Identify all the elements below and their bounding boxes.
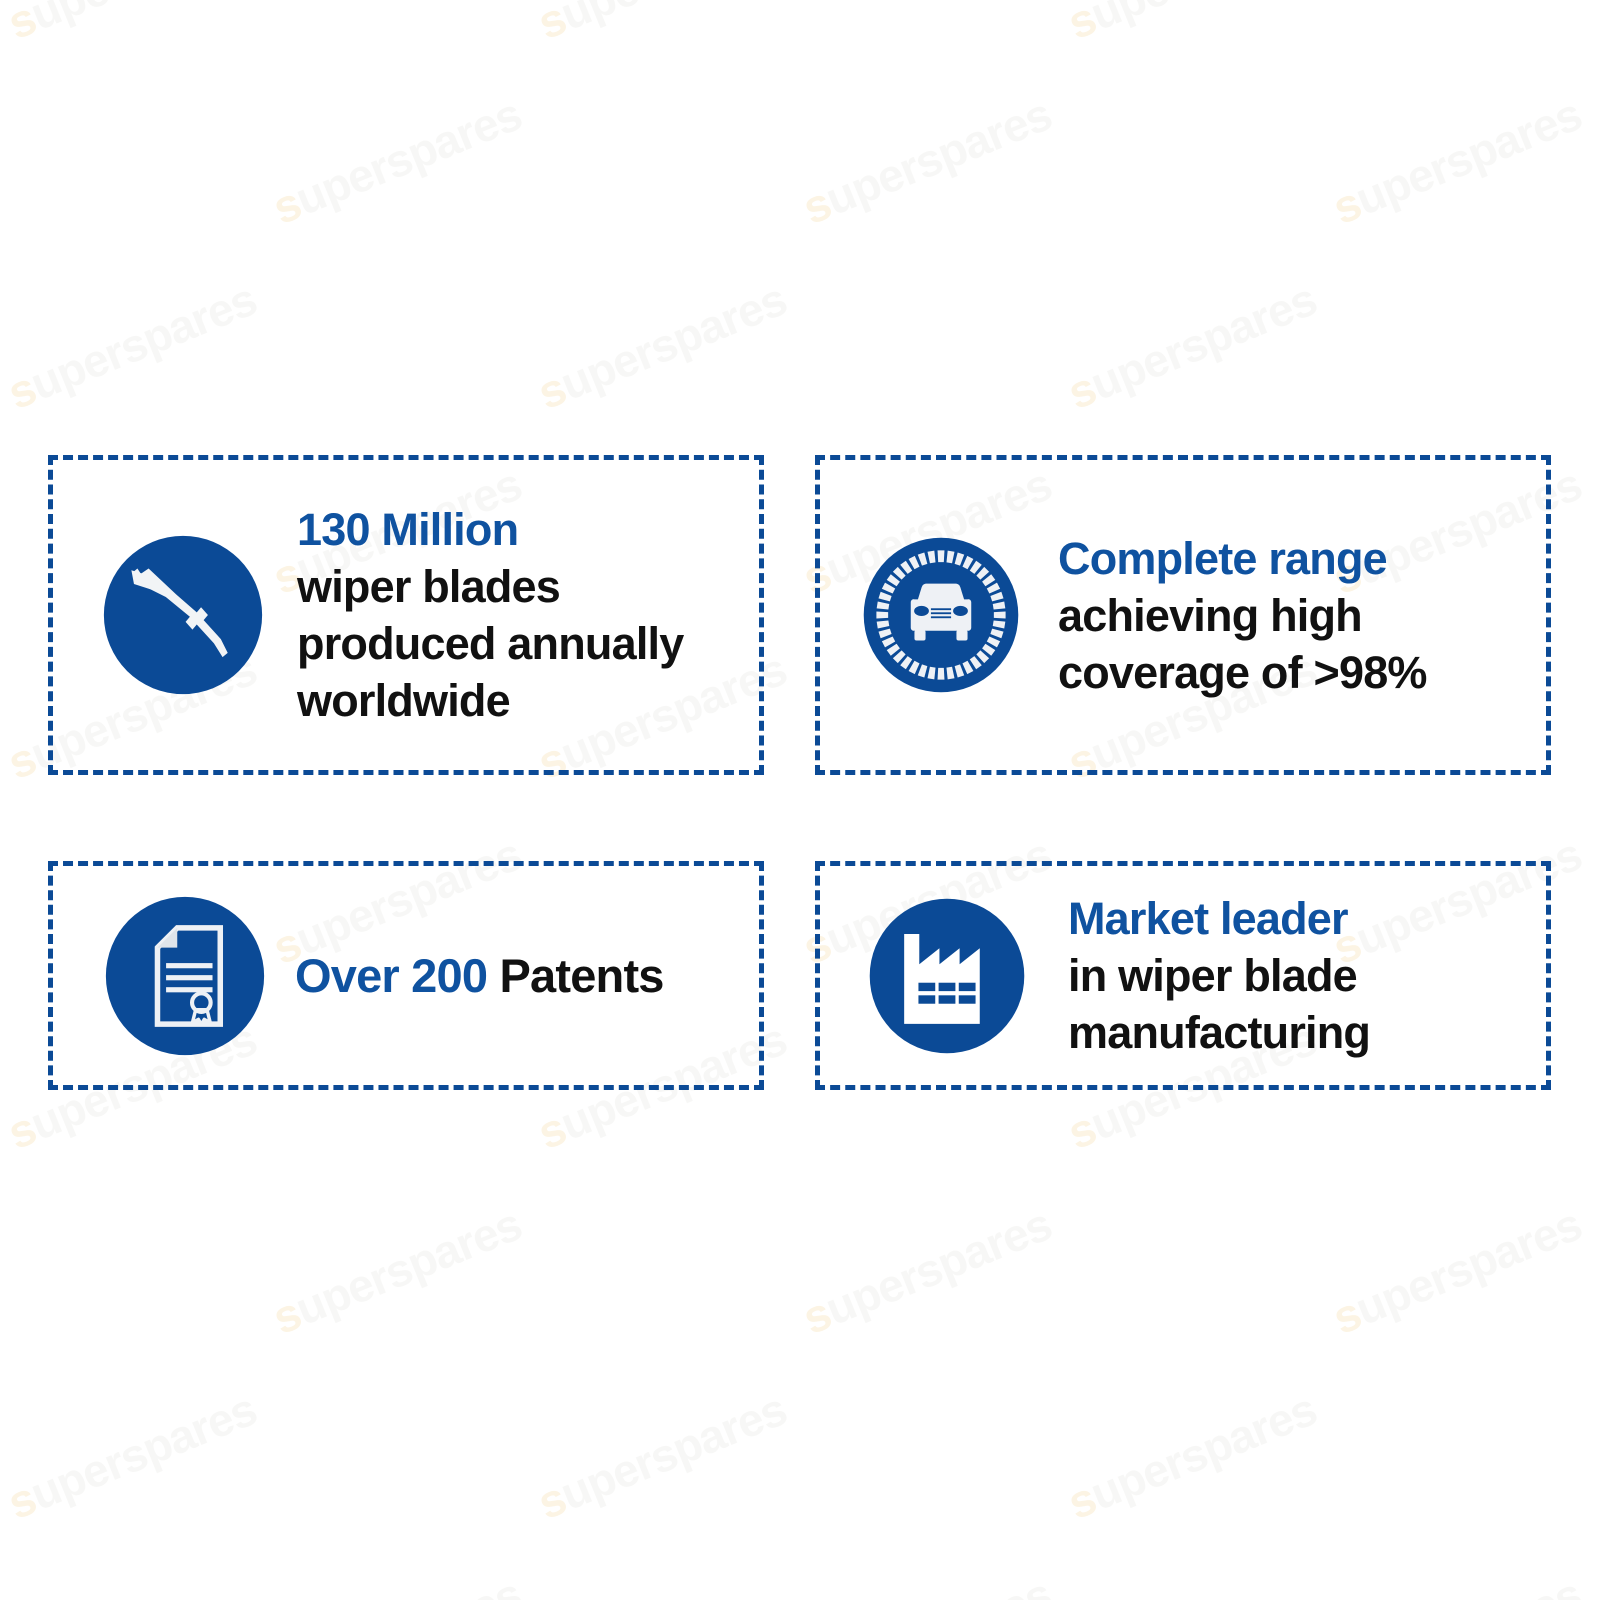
watermark-rest-letters: uperspares — [1083, 1383, 1323, 1520]
watermark-text: superspares — [1590, 1382, 1600, 1530]
watermark-text: superspares — [1060, 1382, 1324, 1530]
body-line-1: in wiper blade — [1068, 947, 1546, 1004]
panel-complete-range: Complete range achieving high coverage o… — [815, 455, 1551, 775]
body-line-1: Patents — [499, 949, 663, 1002]
watermark-lead-letter: s — [795, 1287, 837, 1344]
watermark-lead-letter: s — [530, 1102, 572, 1159]
watermark-rest-letters: uperspares — [23, 0, 263, 40]
watermark-rest-letters: uperspares — [553, 1383, 793, 1520]
watermark-text: superspares — [0, 1382, 264, 1530]
watermark-lead-letter: s — [530, 0, 572, 49]
wiper-blade-icon-wrapper — [83, 529, 283, 701]
watermark-rest-letters: uperspares — [1348, 1198, 1588, 1335]
watermark-lead-letter: s — [0, 362, 42, 419]
body-line-1: wiper blades — [297, 558, 749, 615]
panel-patents: Over 200 Patents — [48, 861, 764, 1090]
watermark-text: superspares — [0, 0, 264, 50]
watermark-lead-letter: s — [530, 362, 572, 419]
body-line-2: produced annually — [297, 615, 749, 672]
watermark-text: superspares — [1590, 1012, 1600, 1160]
watermark-lead-letter: s — [1325, 177, 1367, 234]
watermark-text: superspares — [1325, 87, 1589, 235]
watermark-text: superspares — [0, 272, 264, 420]
watermark-lead-letter: s — [1590, 732, 1600, 789]
watermark-lead-letter: s — [0, 0, 42, 49]
watermark-lead-letter: s — [1060, 0, 1102, 49]
watermark-rest-letters: uperspares — [23, 273, 263, 410]
watermark-lead-letter: s — [1060, 362, 1102, 419]
watermark-rest-letters: uperspares — [1083, 0, 1323, 40]
watermark-lead-letter: s — [1590, 1472, 1600, 1529]
car-coverage-icon-wrapper — [846, 531, 1036, 699]
watermark-text: superspares — [795, 1197, 1059, 1345]
watermark-text: superspares — [1590, 0, 1600, 50]
car-coverage-icon — [857, 531, 1025, 699]
watermark-lead-letter: s — [0, 732, 42, 789]
watermark-rest-letters: uperspares — [818, 1198, 1058, 1335]
factory-icon-wrapper — [852, 892, 1042, 1060]
watermark-lead-letter: s — [0, 1102, 42, 1159]
watermark-lead-letter: s — [1590, 1102, 1600, 1159]
watermark-text: superspares — [1325, 1197, 1589, 1345]
watermark-lead-letter: s — [795, 177, 837, 234]
panel-patents-text: Over 200 Patents — [295, 947, 759, 1004]
watermark-text: superspares — [265, 1567, 529, 1600]
watermark-rest-letters: uperspares — [1348, 1568, 1588, 1600]
watermark-rest-letters: uperspares — [553, 273, 793, 410]
watermark-rest-letters: uperspares — [288, 1568, 528, 1600]
watermark-lead-letter: s — [265, 177, 307, 234]
watermark-text: superspares — [1590, 272, 1600, 420]
watermark-text: superspares — [1325, 1567, 1589, 1600]
watermark-lead-letter: s — [1060, 1102, 1102, 1159]
watermark-text: superspares — [265, 87, 529, 235]
watermark-lead-letter: s — [1325, 1287, 1367, 1344]
watermark-lead-letter: s — [1590, 0, 1600, 49]
watermark-layer: supersparessupersparessupersparessupersp… — [0, 0, 1600, 1600]
body-line-1-spacer — [487, 949, 499, 1002]
watermark-text: superspares — [265, 1197, 529, 1345]
watermark-lead-letter: s — [530, 1472, 572, 1529]
watermark-rest-letters: uperspares — [818, 1568, 1058, 1600]
watermark-text: superspares — [530, 0, 794, 50]
watermark-rest-letters: uperspares — [1348, 88, 1588, 225]
body-line-3: worldwide — [297, 672, 749, 729]
watermark-rest-letters: uperspares — [23, 1383, 263, 1520]
panel-wiper-production: 130 Million wiper blades produced annual… — [48, 455, 764, 775]
watermark-text: superspares — [530, 1382, 794, 1530]
headline-text: 130 Million — [297, 501, 749, 558]
watermark-rest-letters: uperspares — [818, 88, 1058, 225]
headline-text: Over 200 — [295, 949, 487, 1002]
watermark-text: superspares — [1590, 642, 1600, 790]
watermark-text: superspares — [1060, 272, 1324, 420]
watermark-lead-letter: s — [265, 1287, 307, 1344]
watermark-lead-letter: s — [1590, 362, 1600, 419]
watermark-rest-letters: uperspares — [288, 1198, 528, 1335]
patent-certificate-icon-wrapper — [85, 890, 285, 1062]
body-line-2: coverage of >98% — [1058, 644, 1536, 701]
headline-text: Complete range — [1058, 530, 1536, 587]
patent-certificate-icon — [99, 890, 271, 1062]
watermark-text: superspares — [795, 87, 1059, 235]
watermark-lead-letter: s — [0, 1472, 42, 1529]
watermark-text: superspares — [1060, 0, 1324, 50]
headline-text: Market leader — [1068, 890, 1546, 947]
panel-market-leader: Market leader in wiper blade manufacturi… — [815, 861, 1551, 1090]
watermark-lead-letter: s — [1060, 1472, 1102, 1529]
watermark-text: superspares — [530, 272, 794, 420]
watermark-rest-letters: uperspares — [1083, 273, 1323, 410]
watermark-rest-letters: uperspares — [553, 0, 793, 40]
body-line-1: achieving high — [1058, 587, 1536, 644]
wiper-blade-icon — [97, 529, 269, 701]
watermark-text: superspares — [795, 1567, 1059, 1600]
patents-line: Over 200 Patents — [295, 947, 759, 1004]
watermark-rest-letters: uperspares — [288, 88, 528, 225]
body-line-2: manufacturing — [1068, 1004, 1546, 1061]
panel-market-leader-text: Market leader in wiper blade manufacturi… — [1068, 890, 1546, 1061]
factory-icon — [863, 892, 1031, 1060]
panel-complete-range-text: Complete range achieving high coverage o… — [1058, 530, 1546, 701]
panel-wiper-production-text: 130 Million wiper blades produced annual… — [297, 501, 759, 729]
